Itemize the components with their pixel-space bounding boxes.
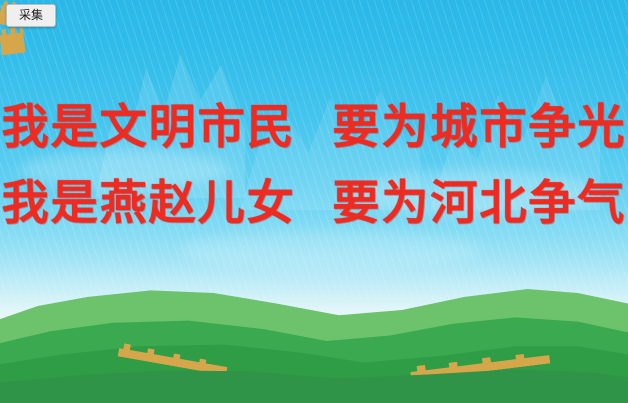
watchtower-right [0, 25, 26, 56]
screenshot-canvas: 我是文明市民 要为城市争光 我是燕赵儿女 要为河北争气 采集 [0, 0, 628, 403]
slogan-line-1: 我是文明市民 要为城市争光 [0, 100, 628, 156]
slogan-line-2: 我是燕赵儿女 要为河北争气 [0, 176, 628, 232]
cloud-center [180, 230, 480, 270]
capture-button[interactable]: 采集 [6, 4, 56, 27]
